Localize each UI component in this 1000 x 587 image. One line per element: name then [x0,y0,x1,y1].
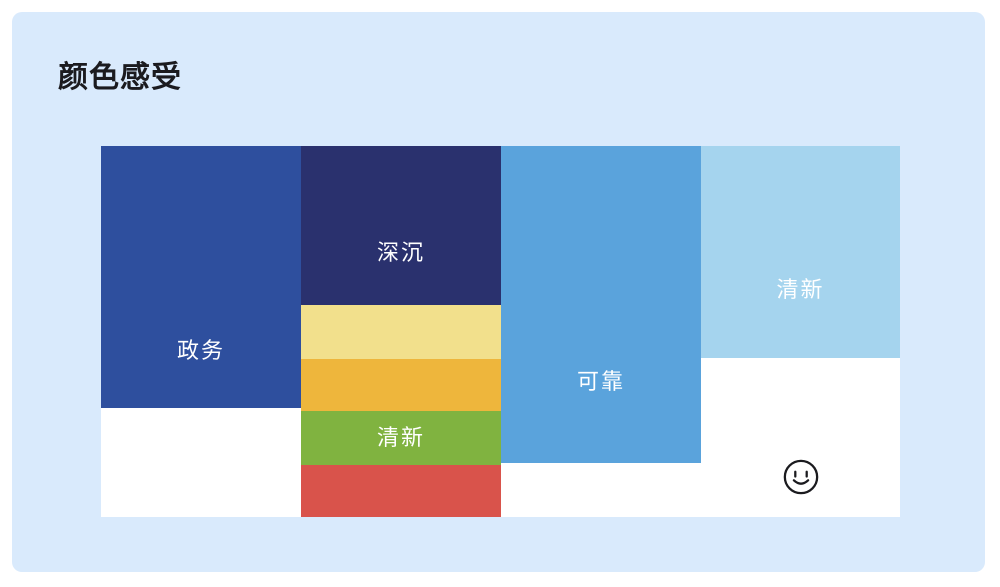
color-block-qingxin-green[interactable]: 清新 [301,411,501,465]
mosaic-column-2: 深沉 清新 [301,146,501,517]
color-block-zhengwu[interactable]: 政务 [101,146,301,408]
color-block-pale-yellow[interactable] [301,305,501,359]
color-block-label-kekao: 可靠 [577,371,625,393]
slide-canvas: 颜色感受 政务 深沉 清新 [0,0,1000,587]
mosaic-column-1: 政务 [101,146,301,517]
color-block-label-zhengwu: 政务 [177,340,225,362]
color-block-shenchen[interactable]: 深沉 [301,146,501,305]
color-block-qingxin-lightblue[interactable]: 清新 [701,146,900,358]
mosaic-column-3: 可靠 [501,146,701,517]
mosaic-column-4: 清新 [701,146,900,517]
smiley-face-icon [782,458,820,496]
color-block-label-qingxin-green: 清新 [377,427,425,449]
color-block-label-qingxin-lightblue: 清新 [776,279,824,301]
color-block-label-shenchen: 深沉 [377,242,425,264]
color-block-red[interactable] [301,465,501,517]
color-block-gold[interactable] [301,359,501,411]
color-mosaic-panel: 政务 深沉 清新 可靠 [101,146,900,517]
smiley-face-slot[interactable] [701,358,900,517]
color-block-kekao[interactable]: 可靠 [501,146,701,463]
page-title: 颜色感受 [58,60,182,96]
